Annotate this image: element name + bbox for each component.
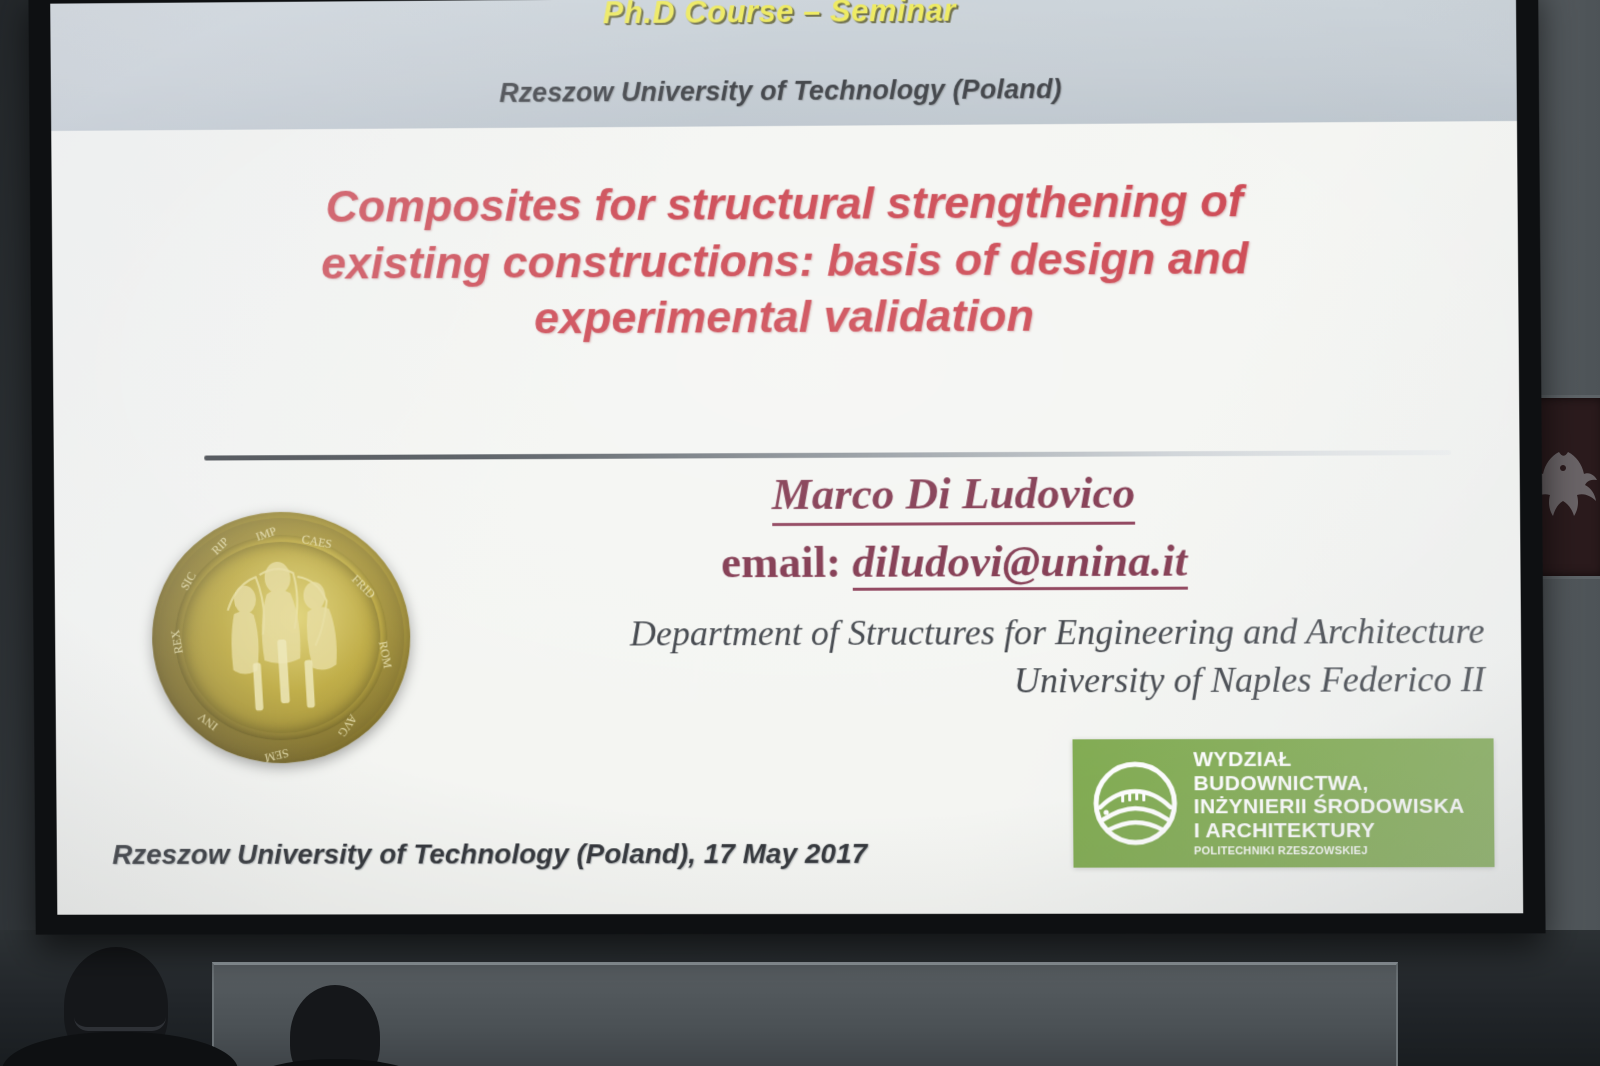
author-block: Marco Di Ludovico email: diludovi@unina.… xyxy=(449,465,1462,589)
slide-title-line-2: existing constructions: basis of design … xyxy=(141,229,1431,293)
faculty-subline: POLITECHNIKI RZESZOWSKIEJ xyxy=(1194,845,1465,858)
svg-text:CAES: CAES xyxy=(301,532,333,551)
email-label: email: xyxy=(721,537,841,587)
faculty-line-4: I ARCHITEKTURY xyxy=(1194,819,1465,843)
svg-text:SIC: SIC xyxy=(177,569,198,592)
svg-text:IMP: IMP xyxy=(254,524,279,544)
author-email-row: email: diludovi@unina.it xyxy=(449,536,1462,589)
faculty-logo: WYDZIAŁ BUDOWNICTWA, INŻYNIERII ŚRODOWIS… xyxy=(1073,738,1495,867)
whiteboard xyxy=(212,962,1398,1066)
svg-text:INV: INV xyxy=(195,709,221,733)
affiliation-university: University of Naples Federico II xyxy=(373,656,1486,707)
faculty-logo-text: WYDZIAŁ BUDOWNICTWA, INŻYNIERII ŚRODOWIS… xyxy=(1193,748,1465,858)
faculty-line-1: WYDZIAŁ xyxy=(1193,748,1464,772)
author-name: Marco Di Ludovico xyxy=(772,466,1136,526)
slide-title: Composites for structural strengthening … xyxy=(141,172,1432,350)
svg-text:AVG: AVG xyxy=(335,712,360,740)
horizontal-divider xyxy=(204,450,1451,460)
audience-head-one xyxy=(64,947,168,1066)
svg-text:RIP: RIP xyxy=(209,534,232,557)
svg-text:SEM: SEM xyxy=(263,746,290,765)
svg-text:REX: REX xyxy=(168,629,186,655)
faculty-line-3: INŻYNIERII ŚRODOWISKA xyxy=(1194,795,1465,819)
lecture-room-scene: Ph.D Course – Seminar Rzeszow University… xyxy=(0,0,1600,1066)
affiliation-department: Department of Structures for Engineering… xyxy=(372,608,1485,659)
faculty-line-2: BUDOWNICTWA, xyxy=(1193,771,1464,795)
bridge-over-water-circle-icon xyxy=(1087,755,1184,851)
glasses-icon xyxy=(74,1003,166,1031)
slide-title-line-3: experimental validation xyxy=(142,286,1432,350)
svg-text:FRID: FRID xyxy=(349,572,378,601)
slide-title-line-1: Composites for structural strengthening … xyxy=(141,172,1431,237)
affiliation-block: Department of Structures for Engineering… xyxy=(372,608,1485,706)
projection-screen-frame: Ph.D Course – Seminar Rzeszow University… xyxy=(28,0,1545,935)
presentation-slide: Ph.D Course – Seminar Rzeszow University… xyxy=(50,0,1523,915)
slide-footer: Rzeszow University of Technology (Poland… xyxy=(112,838,867,871)
author-name-row: Marco Di Ludovico xyxy=(449,465,1462,527)
email-address[interactable]: diludovi@unina.it xyxy=(852,536,1187,591)
